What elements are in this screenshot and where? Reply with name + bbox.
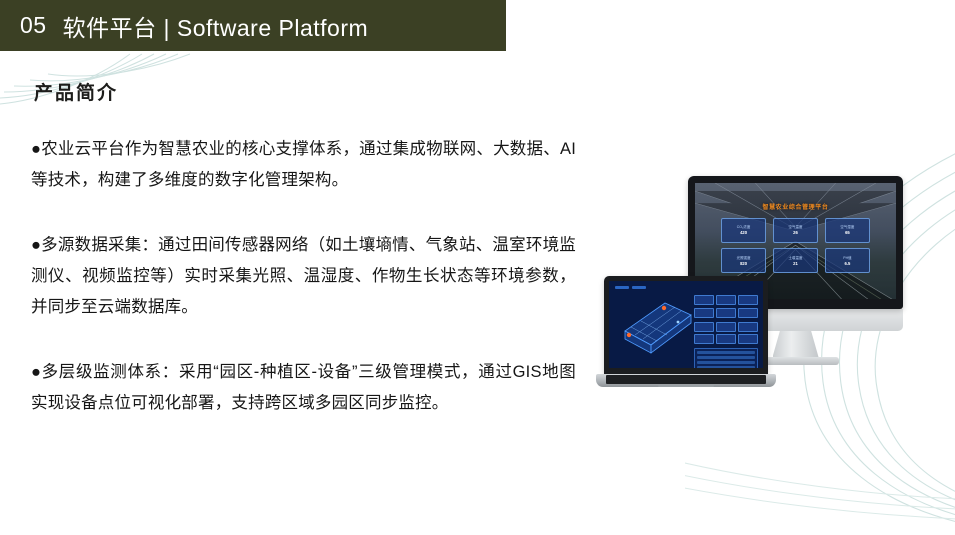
paragraph-1: ●农业云平台作为智慧农业的核心支撑体系，通过集成物联网、大数据、AI等技术，构建… <box>31 134 576 196</box>
laptop-tile[interactable] <box>716 295 736 305</box>
laptop-tile[interactable] <box>738 308 758 318</box>
laptop-screen-header <box>615 286 646 289</box>
metric-value: 820 <box>740 261 747 266</box>
metric-value: 420 <box>740 230 747 235</box>
isometric-greenhouse-model <box>617 297 701 355</box>
paragraph-2: ●多源数据采集：通过田间传感器网络（如土壤墒情、气象站、温室环境监测仪、视频监控… <box>31 230 576 323</box>
laptop-tile[interactable] <box>738 295 758 305</box>
monitor-stand-neck <box>773 331 819 357</box>
device-mockup-image: 智慧农业综合管理平台 CO₂浓度 420 空气温度 26 空气湿度 65 <box>596 176 926 406</box>
metric-card[interactable]: 空气温度 26 <box>773 218 818 243</box>
laptop-tile[interactable] <box>716 322 736 332</box>
metric-card[interactable]: 空气湿度 65 <box>825 218 870 243</box>
section-number: 05 <box>20 12 47 39</box>
laptop-tile[interactable] <box>694 295 714 305</box>
laptop-tile-grid <box>694 295 758 318</box>
laptop-keyboard <box>606 375 766 384</box>
metric-card[interactable]: 光照强度 820 <box>721 248 766 273</box>
metric-value: 65 <box>845 230 850 235</box>
monitor-screen-title: 智慧农业综合管理平台 <box>695 202 896 211</box>
laptop-tile[interactable] <box>738 322 758 332</box>
laptop-tile[interactable] <box>716 308 736 318</box>
metric-label: 光照强度 <box>737 256 751 260</box>
laptop-base <box>596 374 776 387</box>
laptop-lid <box>604 276 768 374</box>
body-text-column: ●农业云平台作为智慧农业的核心支撑体系，通过集成物联网、大数据、AI等技术，构建… <box>31 134 576 419</box>
laptop-tile[interactable] <box>738 334 758 344</box>
laptop-tile[interactable] <box>694 308 714 318</box>
laptop-panel-column <box>694 295 758 368</box>
section-title: 产品简介 <box>34 78 118 105</box>
metric-value: 26 <box>793 230 798 235</box>
laptop-data-panel <box>694 348 758 368</box>
metric-card[interactable]: CO₂浓度 420 <box>721 218 766 243</box>
slide-header-bar: 05 软件平台 | Software Platform <box>0 0 506 51</box>
laptop-tile[interactable] <box>716 334 736 344</box>
laptop-device <box>596 276 776 387</box>
metric-label: CO₂浓度 <box>737 225 751 229</box>
laptop-tile[interactable] <box>694 334 714 344</box>
metric-value: 21 <box>793 261 798 266</box>
metric-label: 空气温度 <box>789 225 803 229</box>
metric-card[interactable]: PH值 6.5 <box>825 248 870 273</box>
metric-value: 6.5 <box>845 261 851 266</box>
metric-label: 土壤温度 <box>789 256 803 260</box>
slide: 05 软件平台 | Software Platform 产品简介 ●农业云平台作… <box>0 0 955 535</box>
laptop-tile[interactable] <box>694 322 714 332</box>
laptop-trackpad <box>658 385 714 388</box>
metric-label: 空气湿度 <box>840 225 854 229</box>
monitor-metric-card-grid: CO₂浓度 420 空气温度 26 空气湿度 65 光照强度 <box>721 218 870 274</box>
laptop-screen <box>609 281 763 368</box>
paragraph-3: ●多层级监测体系：采用“园区-种植区-设备”三级管理模式，通过GIS地图实现设备… <box>31 357 576 419</box>
laptop-tile-grid-secondary <box>694 322 758 345</box>
metric-card[interactable]: 土壤温度 21 <box>773 248 818 273</box>
metric-label: PH值 <box>843 256 851 260</box>
slide-title: 软件平台 | Software Platform <box>63 9 369 43</box>
